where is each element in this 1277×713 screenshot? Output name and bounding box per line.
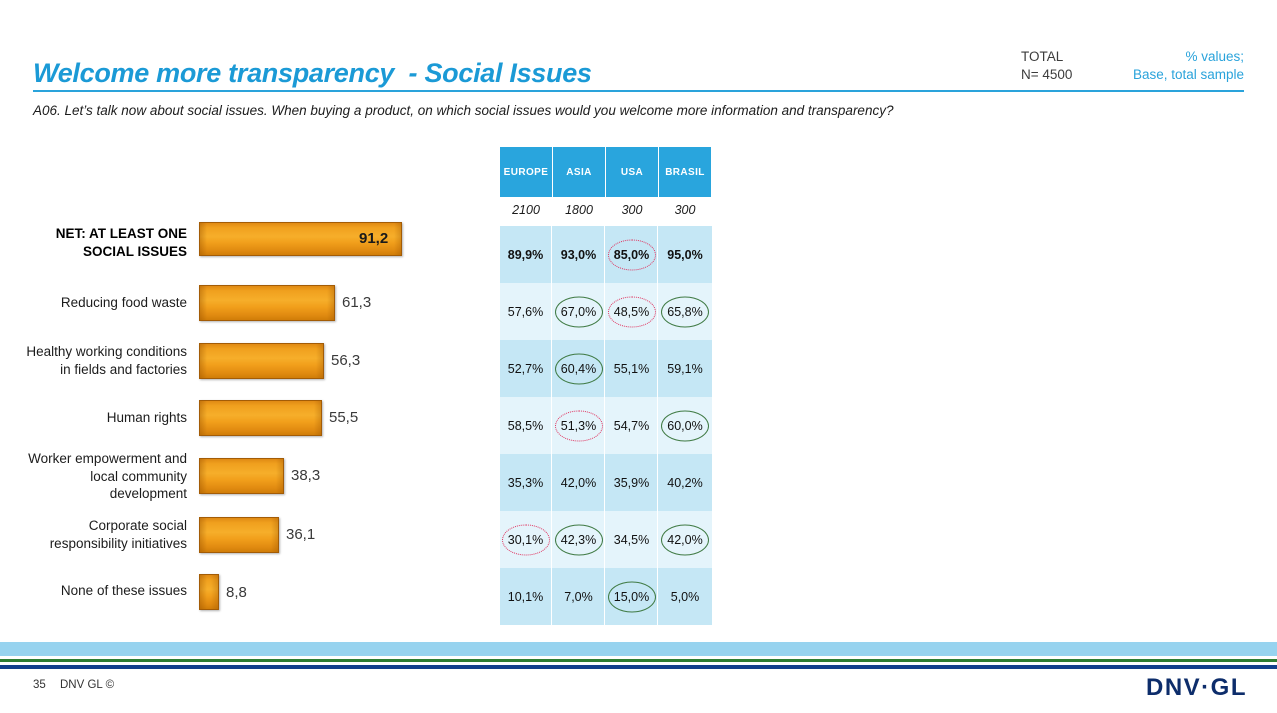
footer-copyright: DNV GL © (60, 679, 114, 691)
bar-row: Reducing food waste 61,3 (0, 285, 470, 325)
table-cell: 59,1% (659, 340, 711, 397)
table-column-header-europe: EUROPE (500, 147, 552, 197)
page-number: 35 (33, 679, 46, 691)
bar-shape (199, 343, 324, 379)
table-cell-value: 42,0% (667, 533, 702, 547)
bar-label-line: Healthy working conditions (0, 343, 187, 361)
bar-label-line: responsibility initiatives (0, 535, 187, 553)
table-row: 30,1% 42,3% 34,5% 42,0% (500, 511, 712, 568)
table-cell-value: 57,6% (508, 305, 543, 319)
table-row: 52,7% 60,4% 55,1% 59,1% (500, 340, 712, 397)
bar-shape (199, 285, 335, 321)
total-sample-block: TOTAL N= 4500 (1021, 48, 1072, 84)
table-cell: 10,1% (500, 568, 552, 625)
table-cell-value: 10,1% (508, 590, 543, 604)
table-row: 35,3% 42,0% 35,9% 40,2% (500, 454, 712, 511)
table-cell: 51,3% (553, 397, 605, 454)
bar-value: 36,1 (286, 526, 315, 543)
table-cell-value: 35,9% (614, 476, 649, 490)
bar-row: None of these issues 8,8 (0, 574, 470, 614)
table-cell: 15,0% (606, 568, 658, 625)
bar-shape (199, 574, 219, 610)
bar-shape (199, 458, 284, 494)
bar-value: 38,3 (291, 467, 320, 484)
bar-value: 91,2 (359, 230, 388, 247)
bar-row: Human rights 55,5 (0, 400, 470, 440)
table-cell: 57,6% (500, 283, 552, 340)
bar-label: Corporate social responsibility initiati… (0, 517, 187, 552)
base-note-block: % values; Base, total sample (1109, 48, 1244, 84)
table-cell-value: 42,3% (561, 533, 596, 547)
table-cell-value: 7,0% (564, 590, 593, 604)
table-cell-value: 93,0% (561, 248, 596, 262)
bar-shape (199, 400, 322, 436)
table-cell-value: 59,1% (667, 362, 702, 376)
bar-shape (199, 517, 279, 553)
table-cell: 40,2% (659, 454, 711, 511)
bar-label-line: NET: AT LEAST ONE (0, 225, 187, 243)
table-cell-value: 65,8% (667, 305, 702, 319)
base-note: Base, total sample (1109, 66, 1244, 84)
table-cell: 48,5% (606, 283, 658, 340)
table-column-header-asia: ASIA (553, 147, 605, 197)
bar-value: 55,5 (329, 409, 358, 426)
table-cell-value: 40,2% (667, 476, 702, 490)
page-title: Welcome more transparency - Social Issue… (33, 58, 592, 89)
table-row: 57,6% 67,0% 48,5% 65,8% (500, 283, 712, 340)
bar-label-line: Corporate social (0, 517, 187, 535)
table-cell-value: 89,9% (508, 248, 543, 262)
bar-label-line: Worker empowerment and (0, 450, 187, 468)
table-cell-value: 42,0% (561, 476, 596, 490)
footer-band-green (0, 659, 1277, 662)
table-cell: 58,5% (500, 397, 552, 454)
table-cell: 60,4% (553, 340, 605, 397)
title-divider (33, 90, 1244, 92)
bar-value: 56,3 (331, 352, 360, 369)
table-row: 10,1% 7,0% 15,0% 5,0% (500, 568, 712, 625)
bar-label-line: development (0, 485, 187, 503)
bar-row: Worker empowerment and local community d… (0, 458, 470, 498)
footer-band-blue (0, 642, 1277, 656)
table-cell: 55,1% (606, 340, 658, 397)
table-cell: 7,0% (553, 568, 605, 625)
bar-label: Reducing food waste (0, 294, 187, 312)
table-cell-value: 30,1% (508, 533, 543, 547)
table-cell-value: 95,0% (667, 248, 702, 262)
question-text: A06. Let’s talk now about social issues.… (33, 102, 923, 121)
table-cell-value: 51,3% (561, 419, 596, 433)
table-row: 58,5% 51,3% 54,7% 60,0% (500, 397, 712, 454)
table-cell-value: 60,4% (561, 362, 596, 376)
table-cell-value: 48,5% (614, 305, 649, 319)
table-cell: 89,9% (500, 226, 552, 283)
table-cell-value: 52,7% (508, 362, 543, 376)
bar-value: 61,3 (342, 294, 371, 311)
bar-label-line: in fields and factories (0, 361, 187, 379)
total-label: TOTAL (1021, 48, 1072, 66)
bar-label-line: None of these issues (0, 582, 187, 600)
dnv-gl-logo: DNV·GL (1146, 674, 1247, 702)
table-cell: 93,0% (553, 226, 605, 283)
table-cell: 5,0% (659, 568, 711, 625)
table-cell: 35,9% (606, 454, 658, 511)
table-cell-value: 85,0% (614, 248, 649, 262)
table-cell: 65,8% (659, 283, 711, 340)
table-cell-value: 58,5% (508, 419, 543, 433)
table-cell: 30,1% (500, 511, 552, 568)
table-base-cell: 1800 (553, 199, 605, 221)
table-cell: 67,0% (553, 283, 605, 340)
table-cell: 42,0% (659, 511, 711, 568)
bar-row: Healthy working conditions in fields and… (0, 343, 470, 383)
table-cell-value: 60,0% (667, 419, 702, 433)
table-cell: 42,0% (553, 454, 605, 511)
table-base-cell: 300 (606, 199, 658, 221)
table-column-header-usa: USA (606, 147, 658, 197)
bar-label: Human rights (0, 409, 187, 427)
bar-row: NET: AT LEAST ONE SOCIAL ISSUES 91,2 (0, 222, 470, 264)
table-cell-value: 34,5% (614, 533, 649, 547)
table-cell: 54,7% (606, 397, 658, 454)
table-cell: 85,0% (606, 226, 658, 283)
table-cell-value: 15,0% (614, 590, 649, 604)
table-column-header-brasil: BRASIL (659, 147, 711, 197)
table-cell: 95,0% (659, 226, 711, 283)
bar-label: None of these issues (0, 582, 187, 600)
values-note: % values; (1109, 48, 1244, 66)
total-value: N= 4500 (1021, 66, 1072, 84)
table-cell: 34,5% (606, 511, 658, 568)
bar-label: NET: AT LEAST ONE SOCIAL ISSUES (0, 225, 187, 260)
table-cell: 52,7% (500, 340, 552, 397)
table-cell: 42,3% (553, 511, 605, 568)
table-cell: 35,3% (500, 454, 552, 511)
bar-label: Worker empowerment and local community d… (0, 450, 187, 503)
table-cell-value: 5,0% (671, 590, 700, 604)
bar-row: Corporate social responsibility initiati… (0, 517, 470, 557)
footer-band-navy (0, 665, 1277, 669)
bar-label-line: SOCIAL ISSUES (0, 243, 187, 261)
bar-label: Healthy working conditions in fields and… (0, 343, 187, 378)
table-base-cell: 2100 (500, 199, 552, 221)
bar-label-line: Human rights (0, 409, 187, 427)
table-cell: 60,0% (659, 397, 711, 454)
bar-label-line: Reducing food waste (0, 294, 187, 312)
table-cell-value: 35,3% (508, 476, 543, 490)
table-row: 89,9% 93,0% 85,0% 95,0% (500, 226, 712, 283)
bar-label-line: local community (0, 468, 187, 486)
bar-value: 8,8 (226, 584, 247, 601)
bar-chart: NET: AT LEAST ONE SOCIAL ISSUES 91,2 Red… (0, 210, 470, 620)
table-cell-value: 54,7% (614, 419, 649, 433)
table-base-cell: 300 (659, 199, 711, 221)
table-cell-value: 67,0% (561, 305, 596, 319)
table-cell-value: 55,1% (614, 362, 649, 376)
